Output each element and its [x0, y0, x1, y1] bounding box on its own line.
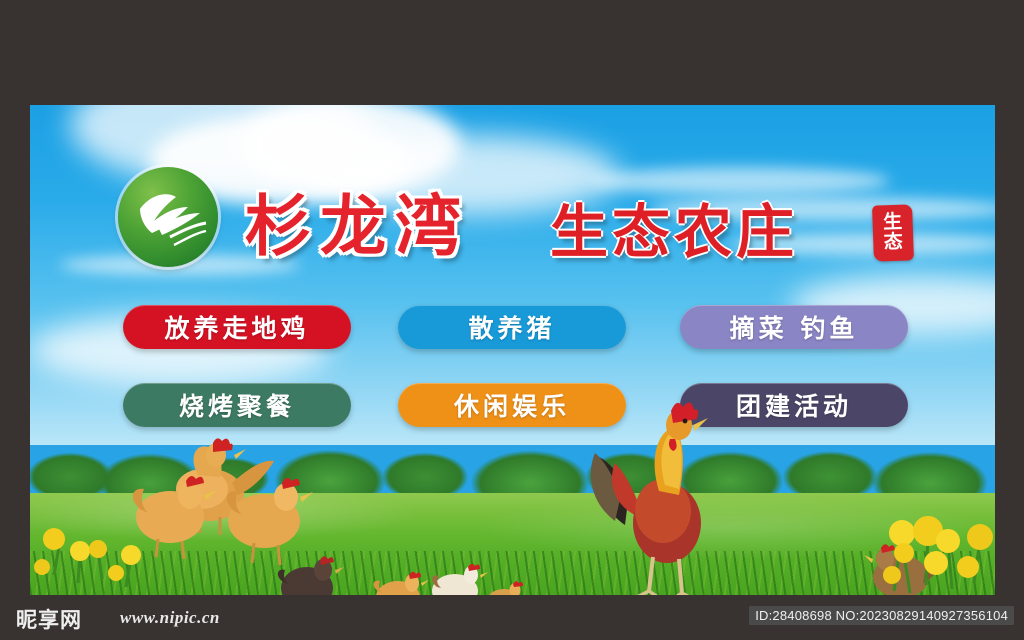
feature-pill-free-range-chicken[interactable]: 放养走地鸡	[123, 305, 351, 349]
feature-pill-row: 放养走地鸡 散养猪 摘菜 钓鱼	[30, 305, 995, 357]
asset-id-label: ID:28408698 NO:20230829140927356104	[749, 606, 1014, 625]
seal-char-bottom: 态	[883, 233, 903, 254]
feature-pill-bbq-dining[interactable]: 烧烤聚餐	[123, 383, 351, 427]
poster-image: 杉龙湾 生态农庄 生 态 放养走地鸡 散养猪 摘菜 钓鱼 烧烤聚餐 休闲娱乐 团…	[30, 105, 995, 595]
feature-pill-team-building[interactable]: 团建活动	[680, 383, 908, 427]
nipic-url[interactable]: www.nipic.cn	[120, 608, 220, 628]
page-title: 生态农庄	[550, 185, 798, 269]
footer-watermark-bar: 昵享网 www.nipic.cn ID:28408698 NO:20230829…	[0, 595, 1024, 640]
feature-pill-row: 烧烤聚餐 休闲娱乐 团建活动	[30, 383, 995, 435]
grass-field	[30, 493, 995, 595]
farm-logo-icon	[118, 167, 218, 267]
grass-blades	[30, 551, 995, 595]
seal-stamp: 生 态	[872, 204, 914, 261]
feature-pill-picking-fishing[interactable]: 摘菜 钓鱼	[680, 305, 908, 349]
feature-pill-group: 放养走地鸡 散养猪 摘菜 钓鱼 烧烤聚餐 休闲娱乐 团建活动	[30, 305, 995, 461]
nipic-logo: 昵享网	[16, 604, 82, 634]
feature-pill-free-range-pig[interactable]: 散养猪	[398, 305, 626, 349]
brand-name: 杉龙湾	[245, 173, 470, 269]
feature-pill-leisure[interactable]: 休闲娱乐	[398, 383, 626, 427]
screenshot-root: 杉龙湾 生态农庄 生 态 放养走地鸡 散养猪 摘菜 钓鱼 烧烤聚餐 休闲娱乐 团…	[0, 0, 1024, 640]
